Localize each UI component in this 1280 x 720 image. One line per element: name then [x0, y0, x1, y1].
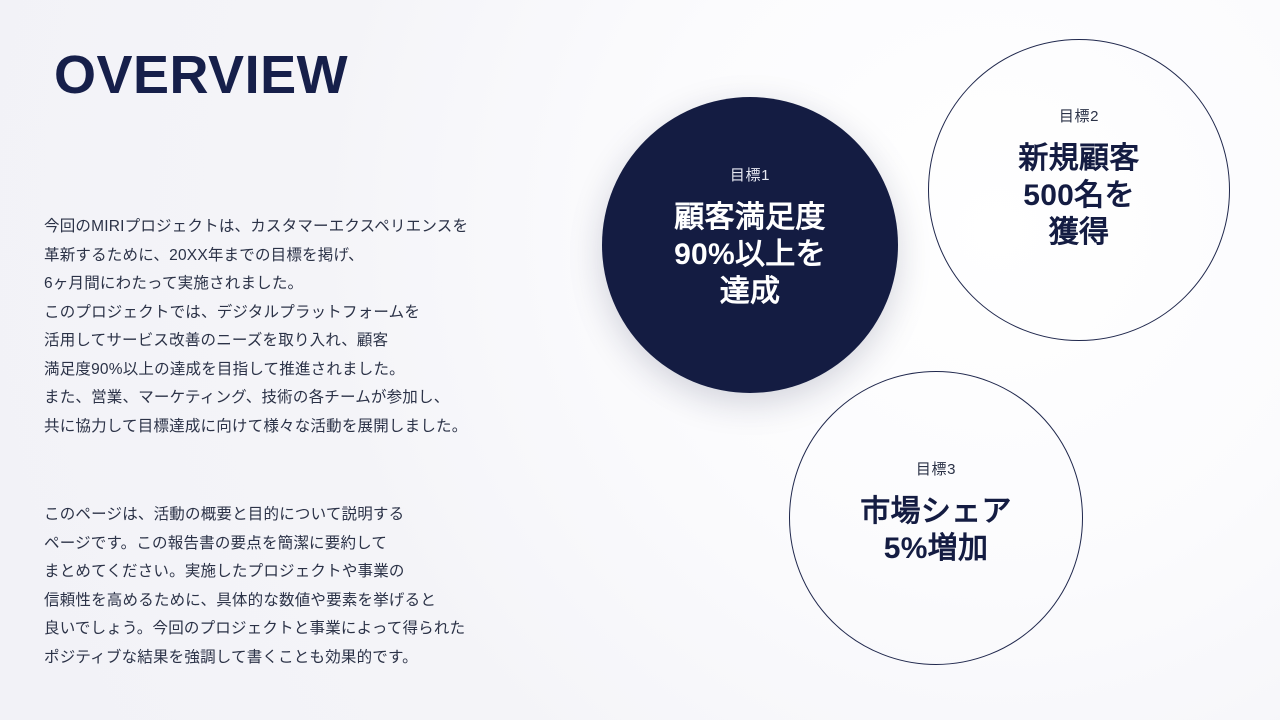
goal-circle-2-content: 目標2 新規顧客 500名を 獲得 [1018, 109, 1139, 251]
paragraph-line: また、営業、マーケティング、技術の各チームが参加し、 [44, 384, 544, 413]
goal-circle-1[interactable]: 目標1 顧客満足度 90%以上を 達成 [602, 97, 898, 393]
paragraph-line: 共に協力して目標達成に向けて様々な活動を展開しました。 [44, 413, 544, 442]
paragraph-line: このページは、活動の概要と目的について説明する [44, 501, 544, 530]
paragraph-line: このプロジェクトでは、デジタルプラットフォームを [44, 299, 544, 328]
goal-headline-line: 新規顧客 [1018, 140, 1139, 177]
goal-circle-2[interactable]: 目標2 新規顧客 500名を 獲得 [928, 39, 1230, 341]
paragraph-line: 良いでしょう。今回のプロジェクトと事業によって得られた [44, 615, 544, 644]
goal-headline-line: 市場シェア [860, 493, 1012, 530]
goal-headline-line: 達成 [674, 273, 826, 310]
goal-headline-line: 90%以上を [674, 236, 826, 273]
goal-circle-3-label: 目標3 [860, 462, 1012, 477]
left-content-column: OVERVIEW 今回のMIRIプロジェクトは、カスタマーエクスペリエンスを 革… [44, 0, 544, 720]
goal-circle-1-content: 目標1 顧客満足度 90%以上を 達成 [674, 168, 826, 310]
goal-headline-line: 顧客満足度 [674, 199, 826, 236]
goal-circle-2-headline: 新規顧客 500名を 獲得 [1018, 140, 1139, 251]
paragraph-text: このページは、活動の概要と目的について説明する ページです。この報告書の要点を簡… [44, 501, 544, 672]
paragraph-line: 活用してサービス改善のニーズを取り入れ、顧客 [44, 327, 544, 356]
goal-headline-line: 獲得 [1018, 214, 1139, 251]
goal-headline-line: 5%増加 [860, 530, 1012, 567]
paragraph-line: 革新するために、20XX年までの目標を掲げ、 [44, 242, 544, 271]
paragraph-line: 6ヶ月間にわたって実施されました。 [44, 270, 544, 299]
slide-canvas: OVERVIEW 今回のMIRIプロジェクトは、カスタマーエクスペリエンスを 革… [0, 0, 1280, 720]
goal-circle-1-headline: 顧客満足度 90%以上を 達成 [674, 199, 826, 310]
overview-paragraph-secondary: このページは、活動の概要と目的について説明する ページです。この報告書の要点を簡… [44, 501, 544, 672]
paragraph-line: 信頼性を高めるために、具体的な数値や要素を挙げると [44, 587, 544, 616]
paragraph-line: 満足度90%以上の達成を目指して推進されました。 [44, 356, 544, 385]
page-title: OVERVIEW [54, 48, 348, 102]
paragraph-line: 今回のMIRIプロジェクトは、カスタマーエクスペリエンスを [44, 213, 544, 242]
goal-circle-3-headline: 市場シェア 5%増加 [860, 493, 1012, 567]
paragraph-line: ページです。この報告書の要点を簡潔に要約して [44, 530, 544, 559]
goal-circle-1-label: 目標1 [674, 168, 826, 183]
overview-paragraph-primary: 今回のMIRIプロジェクトは、カスタマーエクスペリエンスを 革新するために、20… [44, 213, 544, 441]
goal-circle-2-label: 目標2 [1018, 109, 1139, 124]
paragraph-text: 今回のMIRIプロジェクトは、カスタマーエクスペリエンスを 革新するために、20… [44, 213, 544, 441]
goal-headline-line: 500名を [1018, 177, 1139, 214]
goal-circle-3[interactable]: 目標3 市場シェア 5%増加 [789, 371, 1083, 665]
goal-circle-3-content: 目標3 市場シェア 5%増加 [860, 462, 1012, 567]
paragraph-line: ポジティブな結果を強調して書くことも効果的です。 [44, 644, 544, 673]
paragraph-line: まとめてください。実施したプロジェクトや事業の [44, 558, 544, 587]
